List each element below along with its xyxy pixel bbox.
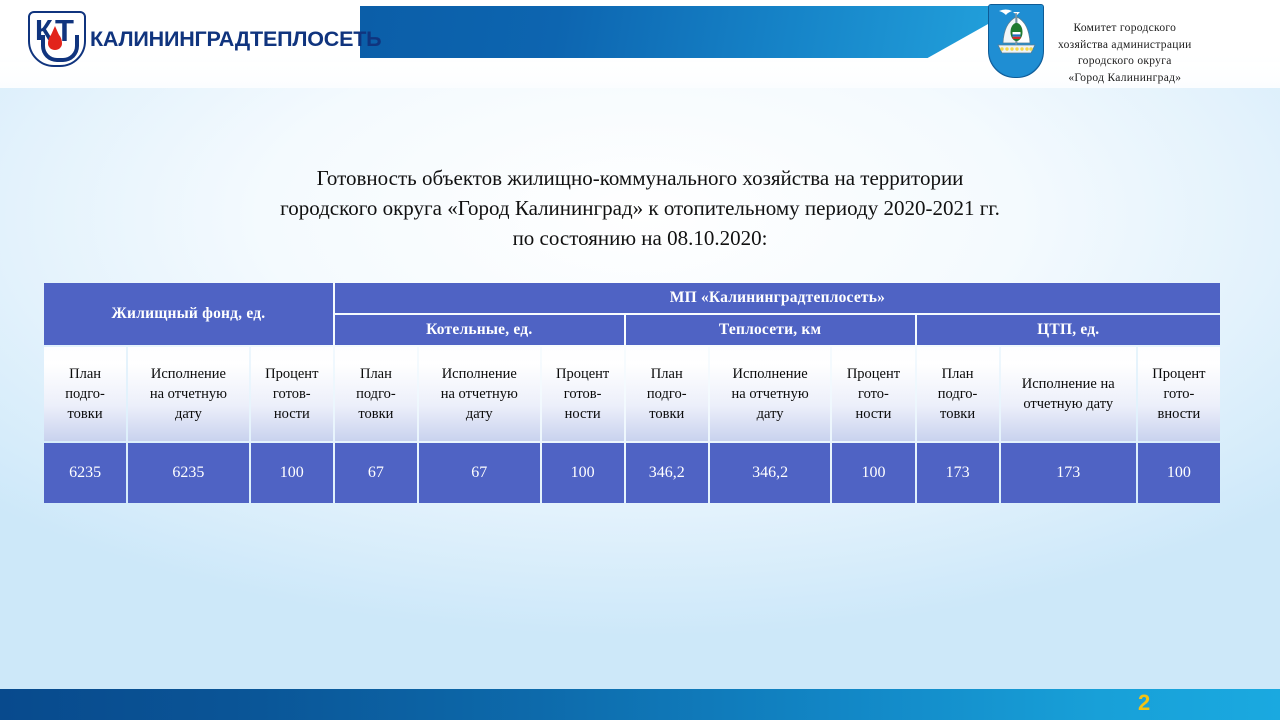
column-header-line: План xyxy=(917,364,999,384)
committee-line-3: городского округа xyxy=(1058,53,1192,70)
column-header-line: подго- xyxy=(335,384,417,404)
page-number: 2 xyxy=(1138,690,1150,716)
header-mp-kaliningradteploset: МП «Калининградтеплосеть» xyxy=(335,283,1220,313)
column-header-line: дату xyxy=(128,404,249,424)
footer-bar xyxy=(0,689,1280,720)
column-header-line: Исполнение xyxy=(419,364,540,384)
column-header-line: товки xyxy=(44,404,126,424)
column-header-line: Исполнение на xyxy=(1001,374,1136,394)
column-header-line: на отчетную xyxy=(128,384,249,404)
column-header-line: ности xyxy=(832,404,914,424)
table-cell: 67 xyxy=(419,443,540,503)
header-ctp: ЦТП, ед. xyxy=(917,315,1220,345)
column-header-line: Процент xyxy=(832,364,914,384)
column-header: Процент готов- ности xyxy=(542,347,624,441)
column-header: План подго- товки xyxy=(44,347,126,441)
header-heat-networks: Теплосети, км xyxy=(626,315,915,345)
column-header-line: товки xyxy=(917,404,999,424)
table-cell: 100 xyxy=(832,443,914,503)
header-banner-shape xyxy=(360,6,1020,58)
table-cell: 346,2 xyxy=(710,443,831,503)
column-header-line: дату xyxy=(419,404,540,424)
table-row: 6235 6235 100 67 67 100 346,2 346,2 100 … xyxy=(44,443,1220,503)
column-header-line: Процент xyxy=(1138,364,1220,384)
company-name: КАЛИНИНГРАДТЕПЛОСЕТЬ xyxy=(90,27,381,52)
committee-line-4: «Город Калининград» xyxy=(1058,70,1192,87)
column-header: План подго- товки xyxy=(626,347,708,441)
column-header-line: Исполнение xyxy=(710,364,831,384)
column-header-line: Исполнение xyxy=(128,364,249,384)
committee-line-2: хозяйства администрации xyxy=(1058,37,1192,54)
column-header: План подго- товки xyxy=(335,347,417,441)
page-title: Готовность объектов жилищно-коммунальног… xyxy=(120,163,1160,253)
table-cell: 6235 xyxy=(44,443,126,503)
column-header-line: товки xyxy=(626,404,708,424)
table-header-row-3: План подго- товки Исполнение на отчетную… xyxy=(44,347,1220,441)
column-header-line: План xyxy=(44,364,126,384)
column-header-line: План xyxy=(335,364,417,384)
column-header-line: ности xyxy=(251,404,333,424)
table-cell: 173 xyxy=(1001,443,1136,503)
column-header-line: гото- xyxy=(832,384,914,404)
column-header-line: готов- xyxy=(251,384,333,404)
column-header: Исполнение на отчетную дату xyxy=(128,347,249,441)
title-line-3: по состоянию на 08.10.2020: xyxy=(120,223,1160,253)
column-header: Процент готов- ности xyxy=(251,347,333,441)
column-header: Исполнение на отчетную дату xyxy=(1001,347,1136,441)
column-header-line: готов- xyxy=(542,384,624,404)
column-header: Исполнение на отчетную дату xyxy=(419,347,540,441)
table-cell: 100 xyxy=(251,443,333,503)
column-header-line: подго- xyxy=(626,384,708,404)
table-cell: 346,2 xyxy=(626,443,708,503)
column-header-line: подго- xyxy=(44,384,126,404)
readiness-table: Жилищный фонд, ед. МП «Калининградтеплос… xyxy=(42,281,1222,505)
company-logo: К Т КАЛИНИНГРАДТЕПЛОСЕТЬ xyxy=(28,8,328,70)
committee-caption: Комитет городского хозяйства администрац… xyxy=(1058,4,1192,87)
column-header-line: Процент xyxy=(251,364,333,384)
column-header-line: вности xyxy=(1138,404,1220,424)
column-header: План подго- товки xyxy=(917,347,999,441)
column-header-line: План xyxy=(626,364,708,384)
table-cell: 100 xyxy=(1138,443,1220,503)
slide: К Т КАЛИНИНГРАДТЕПЛОСЕТЬ xyxy=(0,0,1280,720)
title-line-2: городского округа «Город Калининград» к … xyxy=(120,193,1160,223)
table-cell: 67 xyxy=(335,443,417,503)
kaliningrad-coat-of-arms-icon xyxy=(988,4,1044,78)
column-header-line: на отчетную xyxy=(710,384,831,404)
title-line-1: Готовность объектов жилищно-коммунальног… xyxy=(120,163,1160,193)
column-header-line: на отчетную xyxy=(419,384,540,404)
column-header: Исполнение на отчетную дату xyxy=(710,347,831,441)
header-housing-fund: Жилищный фонд, ед. xyxy=(44,283,333,345)
table-cell: 100 xyxy=(542,443,624,503)
water-drop-icon xyxy=(48,33,62,50)
table-header-row-1: Жилищный фонд, ед. МП «Калининградтеплос… xyxy=(44,283,1220,313)
column-header-line: товки xyxy=(335,404,417,424)
column-header-line: дату xyxy=(710,404,831,424)
column-header-line: Процент xyxy=(542,364,624,384)
kt-logo-icon: К Т xyxy=(28,11,86,67)
committee-block: Комитет городского хозяйства администрац… xyxy=(988,4,1192,87)
header-boilers: Котельные, ед. xyxy=(335,315,624,345)
column-header: Процент гото- ности xyxy=(832,347,914,441)
column-header: Процент гото- вности xyxy=(1138,347,1220,441)
column-header-line: отчетную дату xyxy=(1001,394,1136,414)
table-cell: 173 xyxy=(917,443,999,503)
column-header-line: подго- xyxy=(917,384,999,404)
column-header-line: гото- xyxy=(1138,384,1220,404)
committee-line-1: Комитет городского xyxy=(1058,20,1192,37)
table-cell: 6235 xyxy=(128,443,249,503)
column-header-line: ности xyxy=(542,404,624,424)
